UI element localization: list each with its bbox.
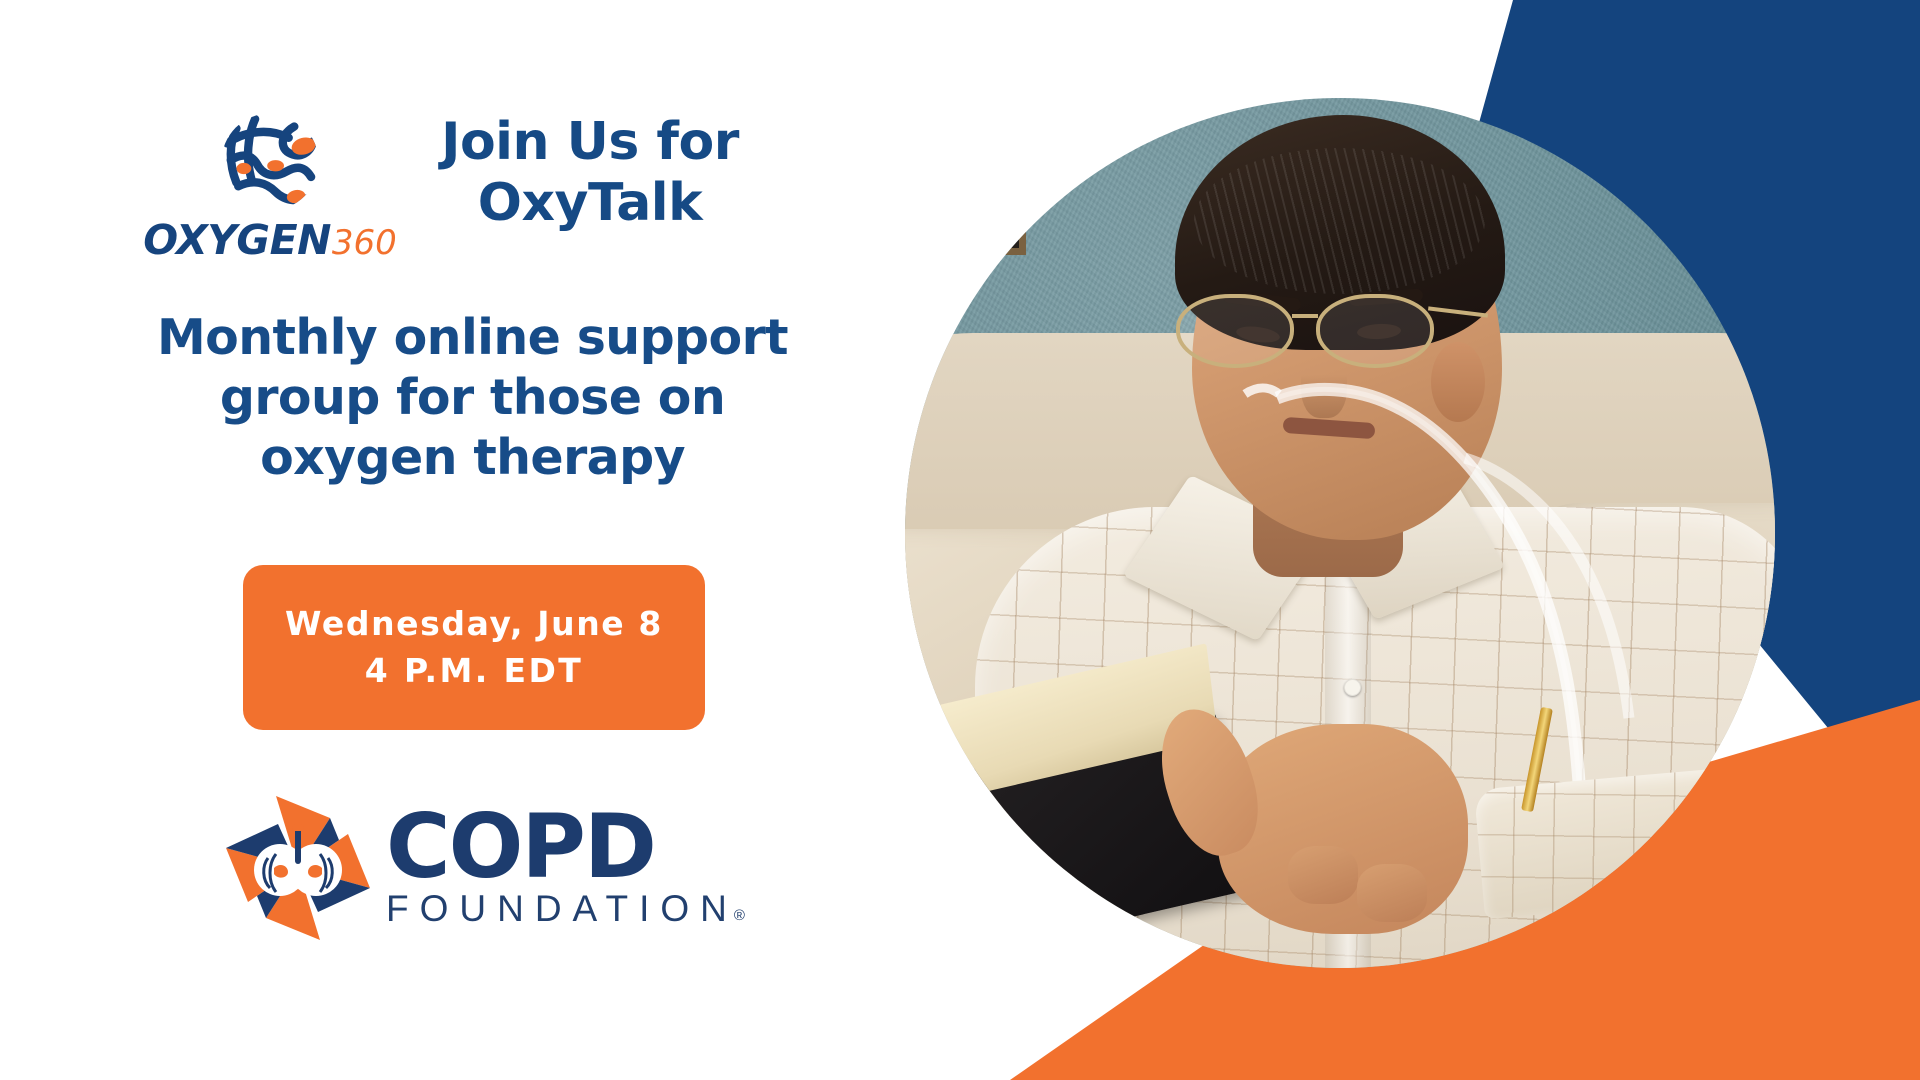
title-line-2: OxyTalk: [390, 173, 790, 234]
copd-pinwheel-icon: [218, 788, 378, 948]
event-date-badge[interactable]: Wednesday, June 8 4 P.M. EDT: [243, 565, 705, 730]
poster-canvas: OXYGEN 360 Join Us for OxyTalk Monthly o…: [0, 0, 1920, 1080]
subtitle-line-3: oxygen therapy: [150, 428, 795, 488]
person-finger: [1357, 864, 1427, 922]
oxygen-word: OXYGEN: [143, 220, 331, 261]
copd-foundation-logo: COPD FOUNDATION ®: [218, 778, 738, 958]
wall-picture-frame: [931, 115, 1026, 255]
hero-photo: [905, 98, 1775, 968]
eyeglasses: [1166, 294, 1466, 386]
eyeglass-bridge: [1292, 314, 1318, 318]
shirt-button: [1344, 679, 1361, 696]
title-line-1: Join Us for: [390, 112, 790, 173]
event-time: 4 P.M. EDT: [365, 648, 583, 695]
subtitle-line-1: Monthly online support: [150, 308, 795, 368]
subtitle: Monthly online support group for those o…: [150, 308, 795, 487]
copd-wordmark: COPD FOUNDATION ®: [378, 809, 745, 928]
foundation-word: FOUNDATION: [386, 890, 738, 927]
copd-word: COPD: [386, 809, 745, 885]
person-hand: [1218, 724, 1468, 934]
content-column: OXYGEN 360 Join Us for OxyTalk Monthly o…: [0, 0, 900, 1080]
globe-icon: [214, 106, 326, 218]
eyeglass-lens-right: [1316, 294, 1434, 368]
brand-and-heading-row: OXYGEN 360 Join Us for OxyTalk: [150, 96, 790, 256]
event-date: Wednesday, June 8: [285, 601, 663, 648]
oxygen360-logo: OXYGEN 360: [150, 96, 390, 261]
subtitle-line-2: group for those on: [150, 368, 795, 428]
eyeglass-lens-left: [1176, 294, 1294, 368]
registered-trademark-icon: ®: [734, 907, 745, 924]
oxygen-360-suffix: 360: [332, 226, 397, 260]
person-finger: [1288, 846, 1358, 904]
shirt-sleeve-cuff: [1474, 764, 1774, 919]
page-title: Join Us for OxyTalk: [390, 96, 790, 234]
oxygen360-wordmark: OXYGEN 360: [143, 220, 397, 261]
